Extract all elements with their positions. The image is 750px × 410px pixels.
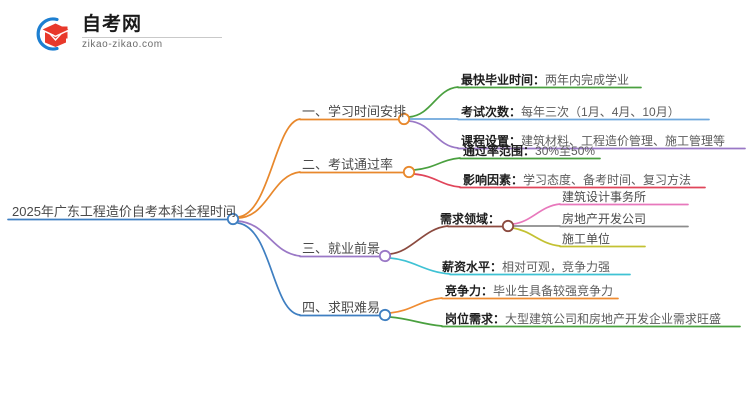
edge-b4-c2 [390,317,442,326]
node-value: 学习态度、备考时间、复习方法 [523,173,691,187]
node-separator: ： [493,312,505,326]
node-value: 毕业生具备较强竞争力 [493,284,613,298]
node-value: 30%至50% [535,144,595,158]
node-competitiveness[interactable]: 竞争力：毕业生具备较强竞争力 [445,284,613,299]
node-demand-fields[interactable]: 需求领域： [440,212,500,227]
branch-1-label[interactable]: 一、学习时间安排 [302,104,406,119]
node-key: 岗位需求 [445,312,493,326]
root-node-label[interactable]: 2025年广东工程造价自考本科全程时间 [12,204,236,219]
node-dot-branch-3[interactable] [380,251,390,261]
node-key: 影响因素 [463,173,511,187]
node-exam-frequency[interactable]: 考试次数：每年三次（1月、4月、10月） [461,105,680,120]
edge-b1-c1 [409,87,458,117]
node-salary-level[interactable]: 薪资水平：相对可观，竞争力强 [442,260,610,275]
node-value: 每年三次（1月、4月、10月） [521,105,680,119]
node-dot-demand-fields[interactable] [503,221,513,231]
edge-b3-c1-g3 [513,228,560,246]
node-value: 相对可观，竞争力强 [502,260,610,274]
node-separator: ： [490,260,502,274]
node-real-estate-company[interactable]: 房地产开发公司 [562,212,646,227]
node-separator: ： [481,284,493,298]
branch-3-label[interactable]: 三、就业前景 [302,241,380,256]
node-dot-branch-2[interactable] [404,167,414,177]
node-key: 考试次数 [461,105,509,119]
node-separator: ： [509,105,521,119]
edge-b3-c1-g1 [513,204,560,224]
edge-b3-c2 [390,258,450,274]
edge-b3-c1 [390,226,448,254]
node-key: 最快毕业时间 [461,73,533,87]
node-fastest-graduation[interactable]: 最快毕业时间：两年内完成学业 [461,73,629,88]
node-pass-rate-range[interactable]: 通过率范围：30%至50% [463,144,595,159]
node-value: 两年内完成学业 [545,73,629,87]
node-key: 通过率范围 [463,144,523,158]
node-separator: ： [533,73,545,87]
node-value: 大型建筑公司和房地产开发企业需求旺盛 [505,312,721,326]
edge-root-branch-2 [238,172,300,218]
edge-b2-c1 [414,158,460,170]
branch-4-label[interactable]: 四、求职难易 [302,300,380,315]
node-architecture-firm[interactable]: 建筑设计事务所 [562,190,646,205]
node-separator: ： [488,212,500,226]
node-separator: ： [523,144,535,158]
edge-b1-c3 [409,121,458,148]
node-job-demand[interactable]: 岗位需求：大型建筑公司和房地产开发企业需求旺盛 [445,312,721,327]
branch-2-label[interactable]: 二、考试通过率 [302,157,393,172]
edge-b2-c2 [414,174,460,187]
node-key: 竞争力 [445,284,481,298]
mindmap-canvas: 自考网 zikao-zikao.com [0,0,750,410]
node-dot-branch-4[interactable] [380,310,390,320]
node-construction-unit[interactable]: 施工单位 [562,232,610,247]
edge-root-branch-1 [238,119,300,217]
node-influencing-factors[interactable]: 影响因素：学习态度、备考时间、复习方法 [463,173,691,188]
node-key: 薪资水平 [442,260,490,274]
node-key: 需求领域 [440,212,488,226]
node-separator: ： [511,173,523,187]
edge-b4-c1 [390,298,442,313]
